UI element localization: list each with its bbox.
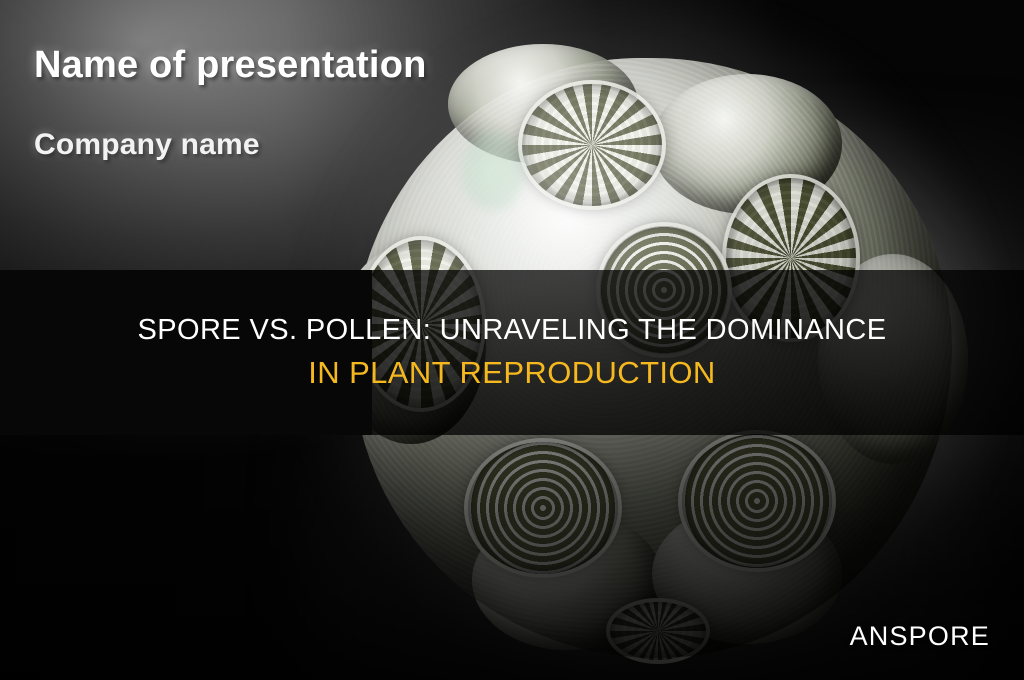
caption-line-primary: SPORE VS. POLLEN: UNRAVELING THE DOMINAN… [138,315,887,345]
watermark-label: ANSPORE [850,621,990,652]
caption-text-block: SPORE VS. POLLEN: UNRAVELING THE DOMINAN… [0,270,1024,435]
company-name-placeholder[interactable]: Company name [34,128,260,162]
caption-line-secondary: IN PLANT REPRODUCTION [308,357,715,390]
presentation-title-placeholder[interactable]: Name of presentation [34,44,427,87]
presentation-slide: Name of presentation Company name SPORE … [0,0,1024,680]
